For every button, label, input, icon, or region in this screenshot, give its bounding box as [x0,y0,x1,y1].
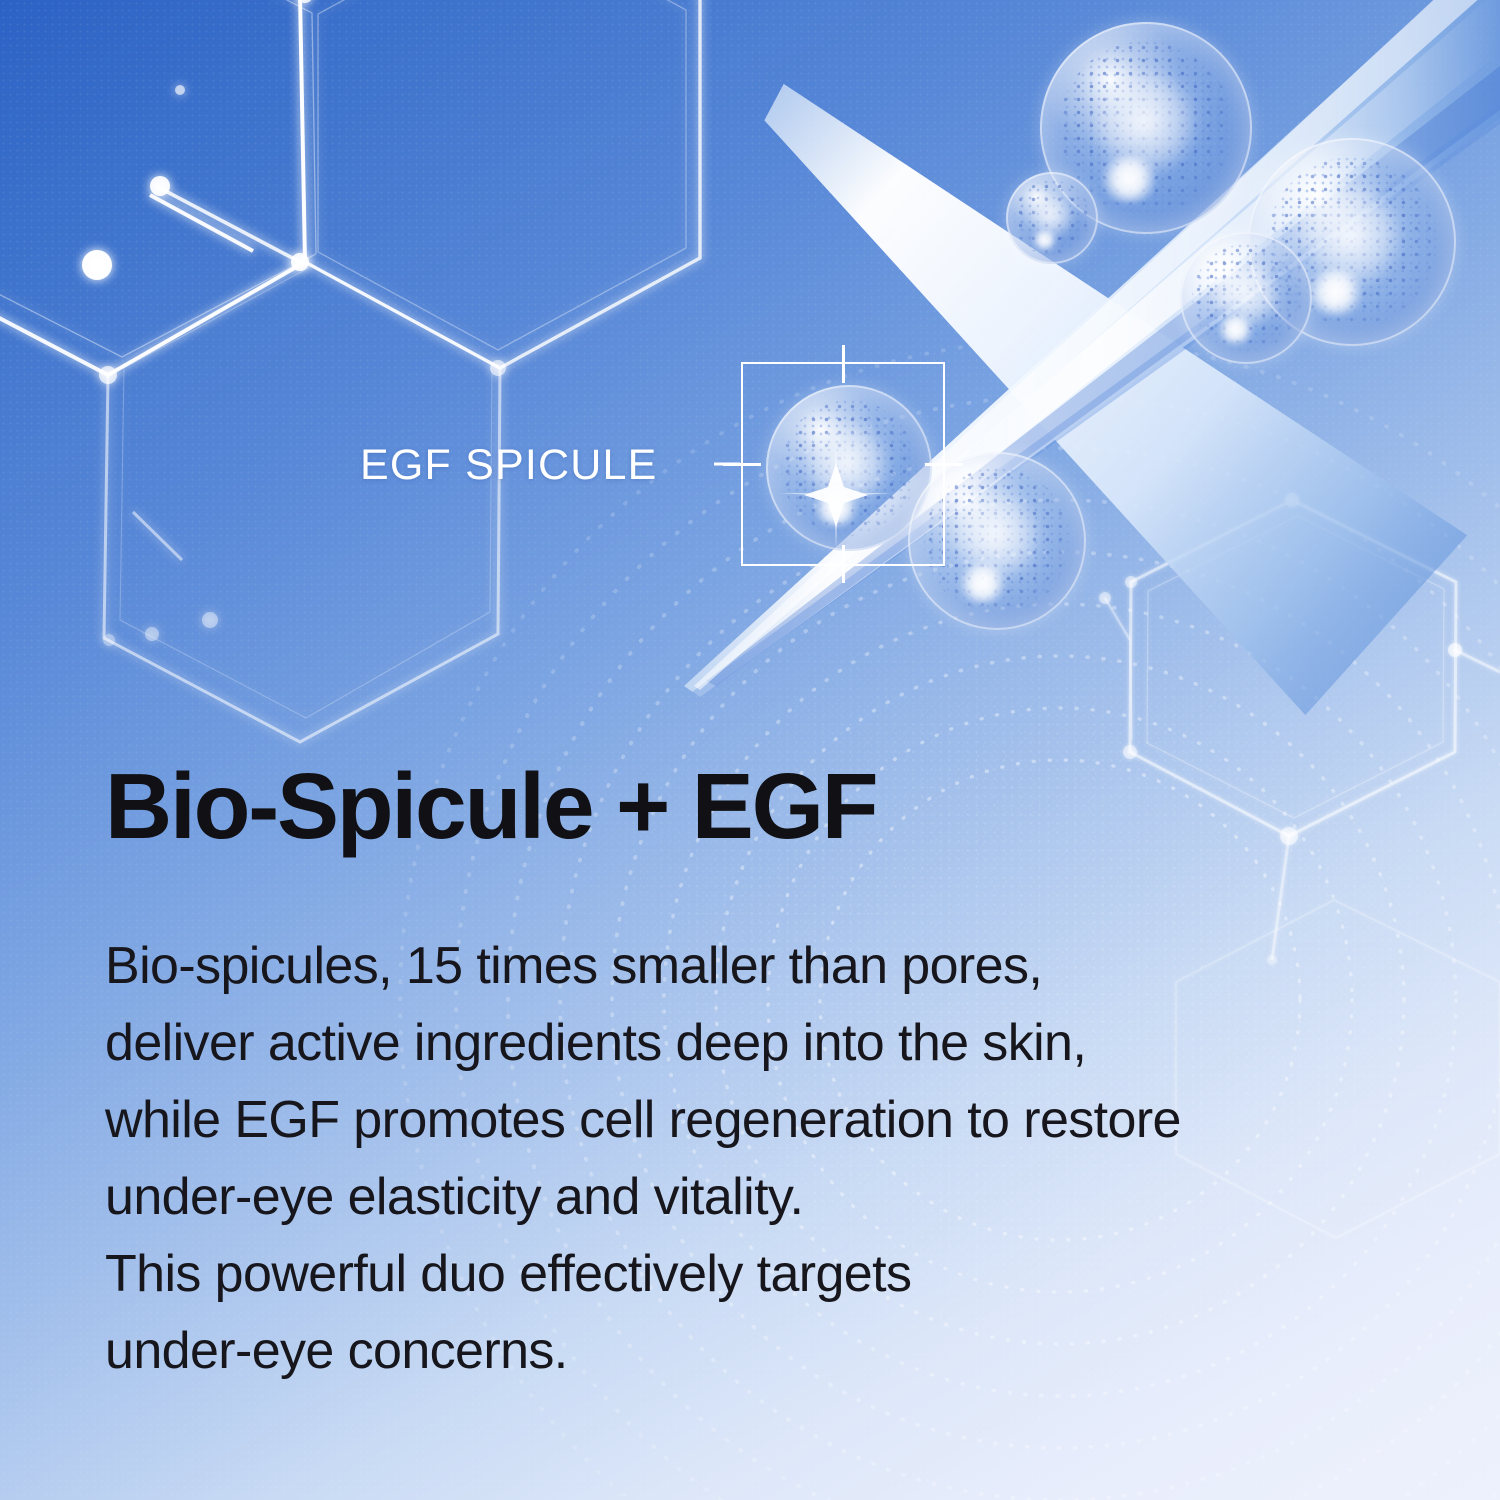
reticle-tick-bottom [842,545,845,583]
description-line-6: under-eye concerns. [105,1313,1181,1390]
description-line-5: This powerful duo effectively targets [105,1236,1181,1313]
page-title: Bio-Spicule + EGF [105,753,876,860]
description-line-1: Bio-spicules, 15 times smaller than pore… [105,928,1181,1005]
bubble-medium-lower [1180,232,1312,364]
egf-spicule-label: EGF SPICULE [360,441,658,490]
description-line-4: under-eye elasticity and vitality. [105,1159,1181,1236]
description-paragraph: Bio-spicules, 15 times smaller than pore… [105,928,1181,1390]
bubble-large-right [1248,138,1456,346]
bubble-bottom-right [908,452,1086,630]
reticle-tick-top [842,345,845,383]
reticle-frame [741,362,945,566]
description-line-3: while EGF promotes cell regeneration to … [105,1082,1181,1159]
reticle-tick-right [925,463,963,466]
target-reticle [741,362,945,566]
bubble-focus [766,385,932,551]
description-line-2: deliver active ingredients deep into the… [105,1005,1181,1082]
infographic-canvas: EGF SPICULE Bio-Spicule + EGF Bio-spicul… [0,0,1500,1500]
bubble-small-left [1006,172,1098,264]
reticle-tick-left [723,463,761,466]
bubble-large-top [1040,22,1252,234]
